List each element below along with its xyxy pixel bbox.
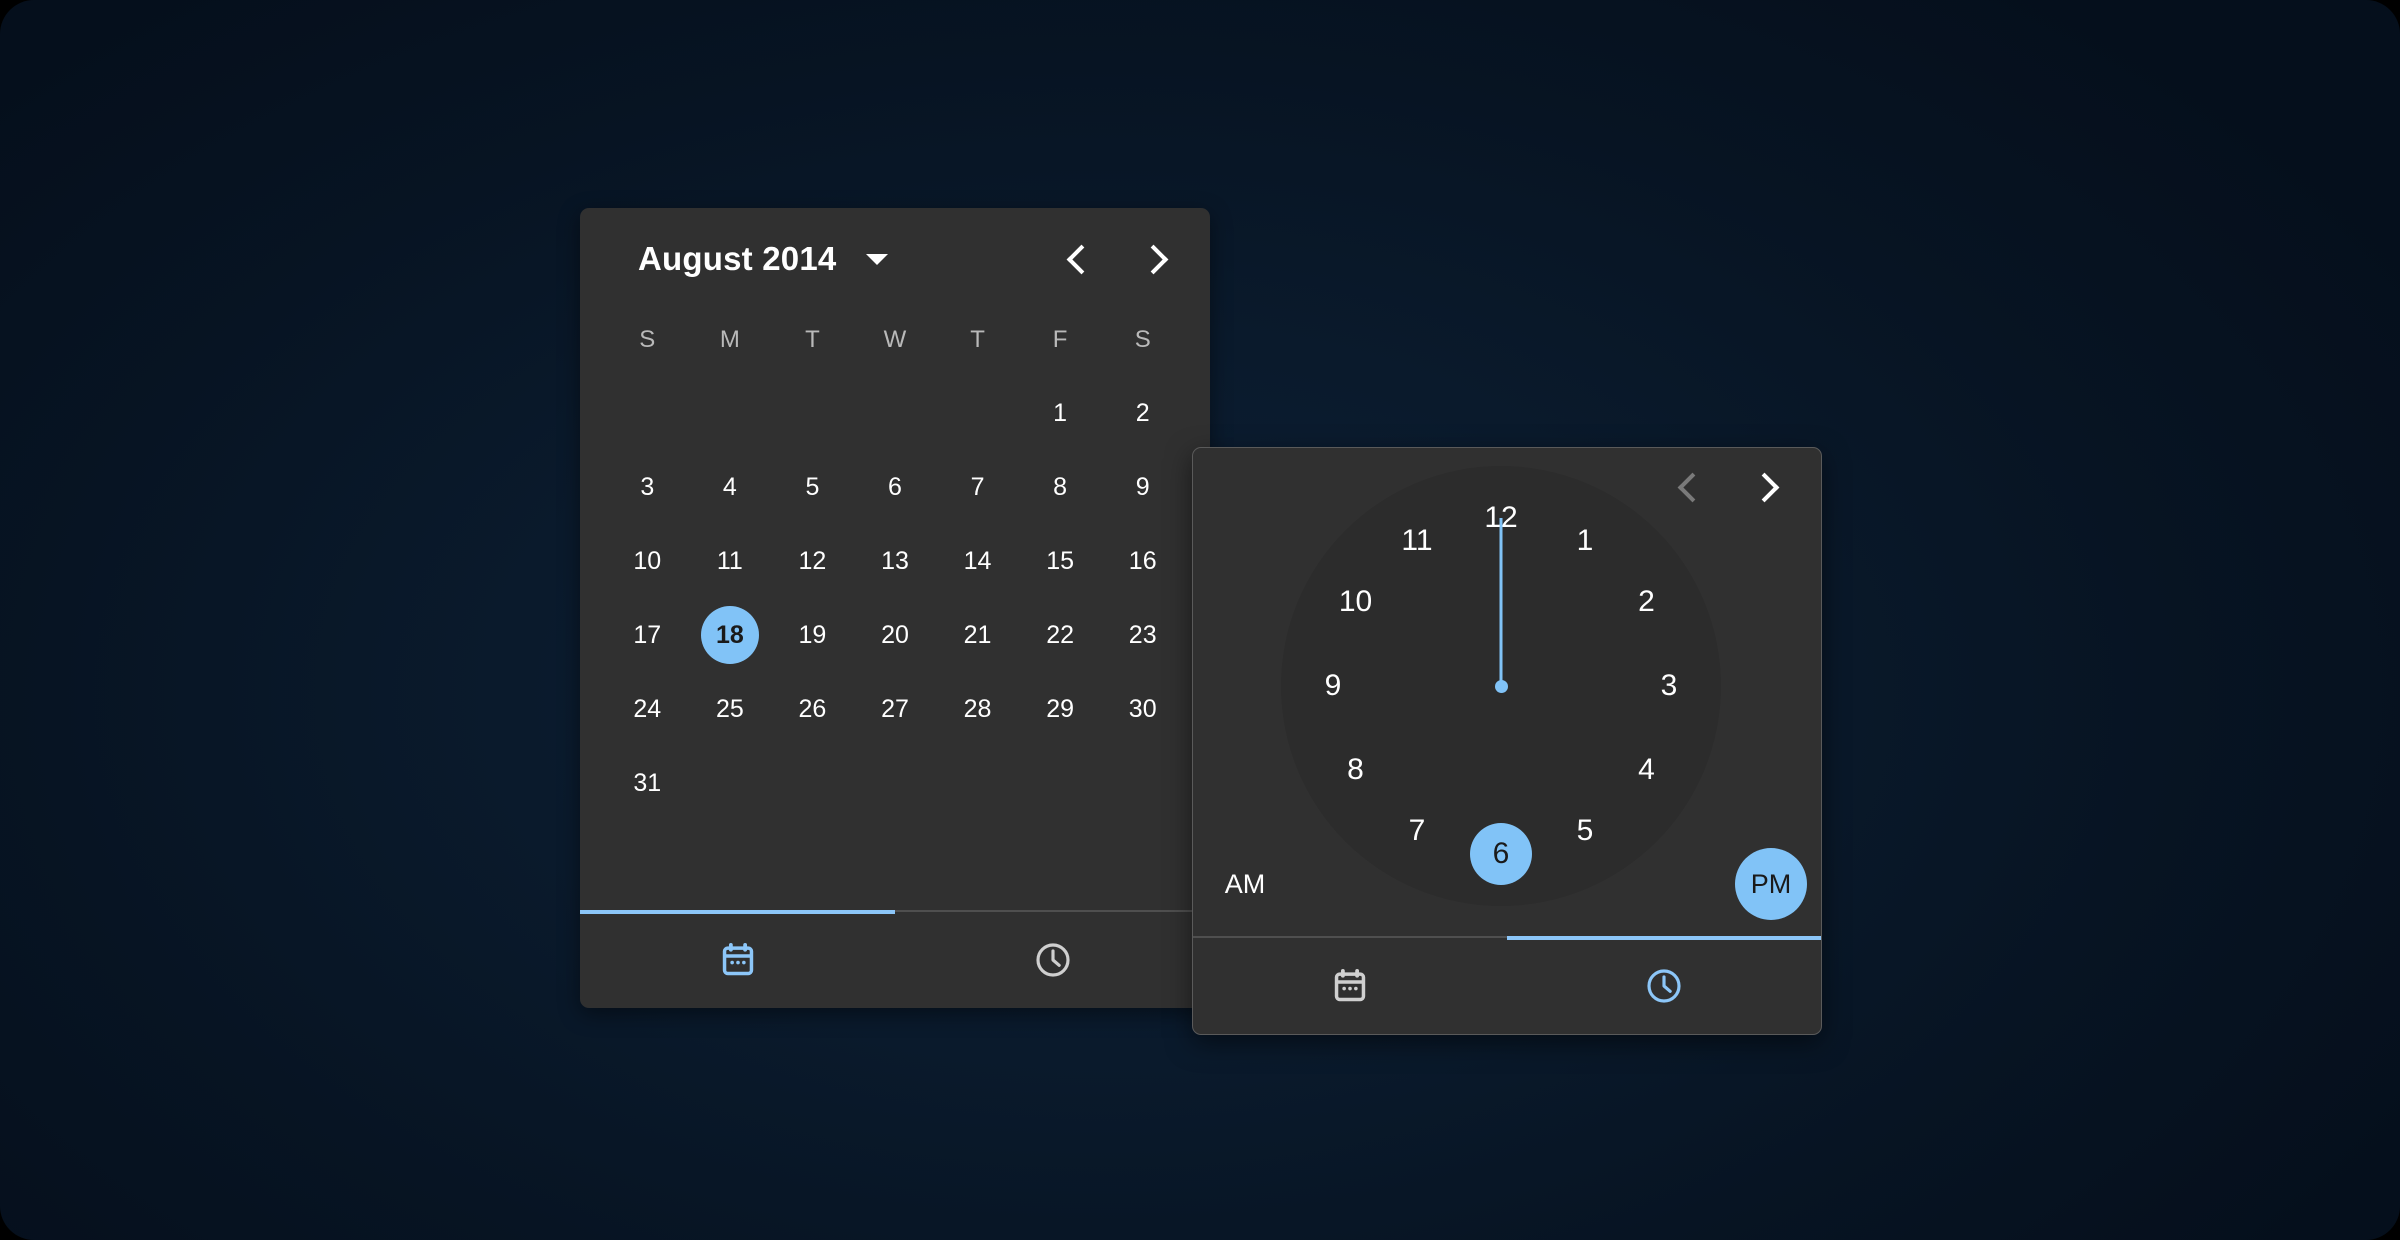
chevron-right-icon[interactable]: [1138, 242, 1172, 276]
weekday-label: T: [771, 316, 854, 364]
chevron-left-icon[interactable]: [1671, 470, 1705, 504]
hour-option[interactable]: 2: [1615, 571, 1677, 633]
day-button[interactable]: 30: [1114, 680, 1172, 738]
day-cell: 21: [936, 598, 1019, 672]
day-cell-empty: [771, 376, 854, 450]
hour-option[interactable]: 10: [1325, 571, 1387, 633]
day-button[interactable]: 21: [949, 606, 1007, 664]
day-cell: 1: [1019, 376, 1102, 450]
day-cell: 13: [854, 524, 937, 598]
weekday-label: T: [936, 316, 1019, 364]
month-year-dropdown[interactable]: August 2014: [638, 240, 888, 278]
day-cell-empty: [606, 376, 689, 450]
date-nav-group: [1060, 208, 1172, 310]
tab-time[interactable]: [1507, 938, 1821, 1034]
day-button[interactable]: 4: [701, 458, 759, 516]
chevron-left-icon[interactable]: [1060, 242, 1094, 276]
day-cell: 17: [606, 598, 689, 672]
day-button[interactable]: 26: [783, 680, 841, 738]
weekday-label: F: [1019, 316, 1102, 364]
day-button[interactable]: 15: [1031, 532, 1089, 590]
hour-option[interactable]: 4: [1615, 739, 1677, 801]
hour-option[interactable]: 7: [1386, 800, 1448, 862]
day-button[interactable]: 17: [618, 606, 676, 664]
day-cell: 12: [771, 524, 854, 598]
day-cell: 10: [606, 524, 689, 598]
day-button[interactable]: 13: [866, 532, 924, 590]
hour-option[interactable]: 12: [1470, 487, 1532, 549]
day-cell: 18: [689, 598, 772, 672]
day-cell-empty: [854, 376, 937, 450]
day-button[interactable]: 6: [866, 458, 924, 516]
hour-option[interactable]: 1: [1554, 510, 1616, 572]
day-cell: 19: [771, 598, 854, 672]
day-button[interactable]: 11: [701, 532, 759, 590]
hour-selected[interactable]: 6: [1470, 823, 1532, 885]
day-cell: 5: [771, 450, 854, 524]
day-button[interactable]: 25: [701, 680, 759, 738]
day-cell: 9: [1101, 450, 1184, 524]
hour-option[interactable]: 11: [1386, 510, 1448, 572]
day-button[interactable]: 14: [949, 532, 1007, 590]
clock-dial[interactable]: 121234567891011: [1281, 466, 1721, 906]
time-nav-group: [1671, 470, 1783, 504]
weekday-label: S: [606, 316, 689, 364]
day-cell: 4: [689, 450, 772, 524]
day-button[interactable]: 19: [783, 606, 841, 664]
date-panel-tabbar: [580, 910, 1210, 1008]
clock-icon: [1033, 940, 1073, 980]
calendar-icon: [719, 941, 757, 979]
date-picker-panel: August 2014 SMTWTFS 12345678910111213141…: [580, 208, 1210, 1008]
hour-option[interactable]: 9: [1302, 655, 1364, 717]
day-grid: 1234567891011121314151617181920212223242…: [606, 376, 1184, 820]
day-button[interactable]: 20: [866, 606, 924, 664]
day-cell: 22: [1019, 598, 1102, 672]
day-cell: 28: [936, 672, 1019, 746]
day-cell: 8: [1019, 450, 1102, 524]
tab-date[interactable]: [580, 912, 895, 1008]
day-cell: 15: [1019, 524, 1102, 598]
chevron-right-icon[interactable]: [1749, 470, 1783, 504]
day-cell: 23: [1101, 598, 1184, 672]
day-button[interactable]: 2: [1114, 384, 1172, 442]
day-button[interactable]: 16: [1114, 532, 1172, 590]
day-button[interactable]: 29: [1031, 680, 1089, 738]
caret-down-icon: [866, 254, 888, 265]
day-cell: 30: [1101, 672, 1184, 746]
weekday-label: W: [854, 316, 937, 364]
day-button[interactable]: 24: [618, 680, 676, 738]
day-cell-empty: [689, 376, 772, 450]
day-cell: 20: [854, 598, 937, 672]
date-picker-header: August 2014: [580, 208, 1210, 310]
tab-date[interactable]: [1193, 938, 1507, 1034]
day-button[interactable]: 7: [949, 458, 1007, 516]
day-cell: 7: [936, 450, 1019, 524]
day-cell: 24: [606, 672, 689, 746]
day-button[interactable]: 28: [949, 680, 1007, 738]
month-year-label: August 2014: [638, 240, 836, 278]
day-button[interactable]: 10: [618, 532, 676, 590]
day-button[interactable]: 22: [1031, 606, 1089, 664]
day-cell: 16: [1101, 524, 1184, 598]
calendar-icon: [1331, 967, 1369, 1005]
tab-time[interactable]: [895, 912, 1210, 1008]
hour-option[interactable]: 5: [1554, 800, 1616, 862]
day-cell: 14: [936, 524, 1019, 598]
day-cell: 26: [771, 672, 854, 746]
day-cell: 3: [606, 450, 689, 524]
clock-center-dot: [1495, 680, 1508, 693]
day-button[interactable]: 3: [618, 458, 676, 516]
day-button[interactable]: 1: [1031, 384, 1089, 442]
day-button[interactable]: 8: [1031, 458, 1089, 516]
time-picker-panel: 121234567891011 AM PM: [1192, 447, 1822, 1035]
day-cell: 31: [606, 746, 689, 820]
hour-option[interactable]: 3: [1638, 655, 1700, 717]
day-button[interactable]: 23: [1114, 606, 1172, 664]
clock-icon: [1644, 966, 1684, 1006]
weekday-label: M: [689, 316, 772, 364]
day-button[interactable]: 5: [783, 458, 841, 516]
day-cell: 29: [1019, 672, 1102, 746]
day-cell: 25: [689, 672, 772, 746]
day-button[interactable]: 27: [866, 680, 924, 738]
day-button[interactable]: 31: [618, 754, 676, 812]
weekday-label: S: [1101, 316, 1184, 364]
day-selected[interactable]: 18: [701, 606, 759, 664]
app-root: August 2014 SMTWTFS 12345678910111213141…: [0, 0, 2400, 1240]
time-panel-tabbar: [1193, 936, 1821, 1034]
day-button[interactable]: 12: [783, 532, 841, 590]
day-cell-empty: [936, 376, 1019, 450]
weekday-header-row: SMTWTFS: [606, 316, 1184, 364]
day-cell: 27: [854, 672, 937, 746]
day-cell: 2: [1101, 376, 1184, 450]
hour-option[interactable]: 8: [1325, 739, 1387, 801]
day-cell: 11: [689, 524, 772, 598]
am-button[interactable]: AM: [1209, 848, 1281, 920]
day-button[interactable]: 9: [1114, 458, 1172, 516]
day-cell: 6: [854, 450, 937, 524]
pm-button[interactable]: PM: [1735, 848, 1807, 920]
